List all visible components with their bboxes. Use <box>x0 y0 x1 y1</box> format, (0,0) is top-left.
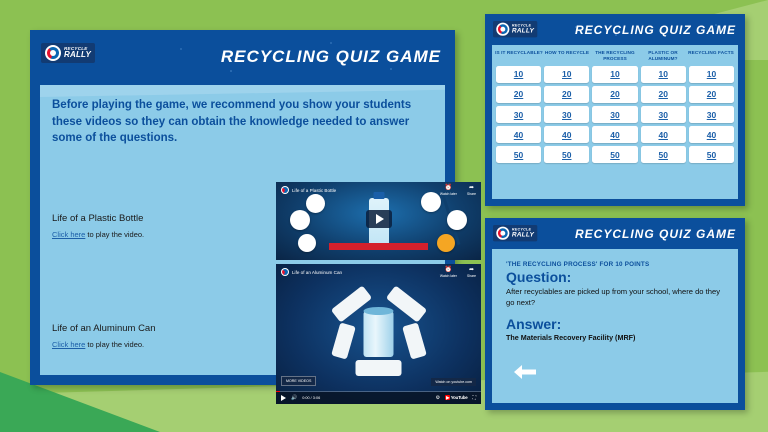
logo-line-2: RALLY <box>64 51 91 59</box>
video-time: 0:00 / 3:06 <box>302 396 320 400</box>
category-recycling-facts: RECYCLING FACTS <box>687 50 735 63</box>
points-value: 10 <box>514 69 523 79</box>
fullscreen-icon[interactable]: ⛶ <box>472 395 476 401</box>
quiz-board-slide: RECYCLE RALLY RECYCLING QUIZ GAME IS IT … <box>485 14 745 206</box>
video-2-label: Life of an Aluminum Can <box>52 323 156 334</box>
points-value: 40 <box>514 130 523 140</box>
logo-line-2: RALLY <box>512 28 534 35</box>
video-2-link-suffix: to play the video. <box>85 340 144 349</box>
category-plastic-or-aluminum: PLASTIC OR ALUMINUM? <box>639 50 687 63</box>
points-cell[interactable]: 10 <box>496 66 541 83</box>
points-cell[interactable]: 50 <box>592 146 637 163</box>
points-cell[interactable]: 30 <box>689 106 734 123</box>
youtube-logo[interactable]: ▶YouTube <box>445 395 467 401</box>
points-cell[interactable]: 20 <box>496 86 541 103</box>
qa-kicker: 'THE RECYCLING PROCESS' FOR 10 POINTS <box>506 261 724 268</box>
recycle-rally-logo-qa: RECYCLE RALLY <box>493 225 537 241</box>
points-value: 30 <box>658 110 667 120</box>
bottle-cap <box>373 192 384 199</box>
points-value: 40 <box>610 130 619 140</box>
aluminum-can-illustration <box>364 311 394 357</box>
recycle-arrow-5 <box>402 322 427 359</box>
question-answer-slide: RECYCLE RALLY RECYCLING QUIZ GAME 'THE R… <box>485 218 745 410</box>
watch-later-label-2: Watch later <box>440 274 457 278</box>
question-label: Question: <box>506 270 724 284</box>
player-2-top-actions[interactable]: ⏰ Watch later ➦ Share <box>440 267 476 278</box>
question-text: After recyclables are picked up from you… <box>506 286 724 308</box>
volume-icon[interactable]: 🔊 <box>291 395 297 401</box>
video-1-link-suffix: to play the video. <box>85 230 144 239</box>
points-cell[interactable]: 40 <box>544 126 589 143</box>
qa-slide-title: RECYCLING QUIZ GAME <box>575 227 736 241</box>
points-cell[interactable]: 20 <box>592 86 637 103</box>
points-value: 40 <box>658 130 667 140</box>
points-cell[interactable]: 20 <box>544 86 589 103</box>
board-slide-title: RECYCLING QUIZ GAME <box>575 23 736 37</box>
points-value: 50 <box>707 150 716 160</box>
can-top <box>364 307 394 315</box>
points-cell[interactable]: 20 <box>641 86 686 103</box>
points-cell[interactable]: 30 <box>592 106 637 123</box>
more-videos-button[interactable]: MORE VIDEOS <box>281 376 316 386</box>
watch-later-button-2[interactable]: ⏰ Watch later <box>440 267 457 278</box>
points-cell[interactable]: 20 <box>689 86 734 103</box>
qa-panel: 'THE RECYCLING PROCESS' FOR 10 POINTS Qu… <box>492 249 738 403</box>
water-drop-icon <box>298 234 316 252</box>
points-cell[interactable]: 50 <box>496 146 541 163</box>
recycle-arrow-4 <box>331 322 356 359</box>
video-2-click-here-link[interactable]: Click here <box>52 340 85 349</box>
points-value: 20 <box>562 89 571 99</box>
recycle-swoosh-icon <box>45 45 61 61</box>
player-1-title: Life of a Plastic Bottle <box>292 188 336 193</box>
points-value: 40 <box>562 130 571 140</box>
points-row: 30 30 30 30 30 <box>496 106 734 123</box>
clock-icon: ⏰ <box>445 185 452 191</box>
share-icon: ➦ <box>469 267 474 273</box>
share-label-2: Share <box>467 274 476 278</box>
points-value: 30 <box>562 110 571 120</box>
player-2-channel-icon <box>281 268 289 276</box>
quiz-board-panel: IS IT RECYCLABLE? HOW TO RECYCLE THE REC… <box>492 45 738 199</box>
back-arrow-icon[interactable] <box>512 363 538 381</box>
points-value: 50 <box>562 150 571 160</box>
logo-line-2: RALLY <box>512 232 534 239</box>
points-cell[interactable]: 50 <box>544 146 589 163</box>
main-slide-title: RECYCLING QUIZ GAME <box>221 47 441 67</box>
oil-rig-icon <box>290 210 310 230</box>
panel-wave-decor <box>40 85 445 97</box>
watch-on-youtube-button[interactable]: Watch on youtube.com <box>431 378 476 386</box>
recycle-rally-logo: RECYCLE RALLY <box>41 43 95 63</box>
video-control-bar[interactable]: 🔊 0:00 / 3:06 ⚙ ▶YouTube ⛶ <box>276 392 481 404</box>
points-value: 50 <box>658 150 667 160</box>
points-cell[interactable]: 40 <box>689 126 734 143</box>
points-value: 30 <box>707 110 716 120</box>
video-1-click-here-link[interactable]: Click here <box>52 230 85 239</box>
points-row: 50 50 50 50 50 <box>496 146 734 163</box>
points-cell[interactable]: 30 <box>496 106 541 123</box>
player-1-play-overlay[interactable] <box>366 210 392 228</box>
points-value: 10 <box>658 69 667 79</box>
recycle-arrow-3 <box>356 360 402 376</box>
watch-later-label: Watch later <box>440 192 457 196</box>
factory-icon <box>306 194 325 213</box>
points-value: 20 <box>707 89 716 99</box>
player-1-top-actions[interactable]: ⏰ Watch later ➦ Share <box>440 185 476 196</box>
player-2-title: Life of an Aluminum Can <box>292 270 342 275</box>
points-value: 10 <box>562 69 571 79</box>
points-value: 20 <box>658 89 667 99</box>
points-cell[interactable]: 50 <box>689 146 734 163</box>
video-player-plastic-bottle[interactable]: Life of a Plastic Bottle ⏰ Watch later ➦… <box>276 182 481 260</box>
answer-label: Answer: <box>506 317 724 331</box>
points-cell[interactable]: 50 <box>641 146 686 163</box>
points-row: 40 40 40 40 40 <box>496 126 734 143</box>
points-grid: 10 10 10 10 10 20 20 20 20 20 30 30 30 3… <box>492 65 738 168</box>
player-1-title-bar: Life of a Plastic Bottle <box>281 186 336 194</box>
points-value: 20 <box>514 89 523 99</box>
youtube-label: YouTube <box>451 395 468 400</box>
answer-text: The Materials Recovery Facility (MRF) <box>506 333 724 342</box>
video-1-link-line: Click here to play the video. <box>52 230 144 239</box>
recycle-rally-logo-board: RECYCLE RALLY <box>493 21 537 37</box>
points-value: 20 <box>610 89 619 99</box>
share-button[interactable]: ➦ Share <box>467 185 476 196</box>
points-cell[interactable]: 30 <box>544 106 589 123</box>
red-floor-band <box>329 243 427 250</box>
red-flakes-icon <box>447 210 467 230</box>
category-is-it-recyclable: IS IT RECYCLABLE? <box>495 50 543 63</box>
share-button-2[interactable]: ➦ Share <box>467 267 476 278</box>
share-label: Share <box>467 192 476 196</box>
points-row: 10 10 10 10 10 <box>496 66 734 83</box>
video-player-aluminum-can[interactable]: Life of an Aluminum Can ⏰ Watch later ➦ … <box>276 264 481 404</box>
video-1-label: Life of a Plastic Bottle <box>52 213 143 224</box>
player-1-channel-icon <box>281 186 289 194</box>
red-pellets-icon <box>421 192 441 212</box>
intro-paragraph: Before playing the game, we recommend yo… <box>52 97 430 147</box>
recycled-product-icon <box>437 234 455 252</box>
points-cell[interactable]: 10 <box>689 66 734 83</box>
share-icon: ➦ <box>469 185 474 191</box>
points-cell[interactable]: 10 <box>544 66 589 83</box>
points-row: 20 20 20 20 20 <box>496 86 734 103</box>
points-cell[interactable]: 40 <box>496 126 541 143</box>
points-value: 50 <box>610 150 619 160</box>
watch-later-button[interactable]: ⏰ Watch later <box>440 185 457 196</box>
main-intro-slide: RECYCLE RALLY RECYCLING QUIZ GAME Before… <box>30 30 455 385</box>
player-2-title-bar: Life of an Aluminum Can <box>281 268 342 276</box>
points-value: 10 <box>707 69 716 79</box>
points-value: 10 <box>610 69 619 79</box>
points-cell[interactable]: 10 <box>592 66 637 83</box>
category-how-to-recycle: HOW TO RECYCLE <box>543 50 591 63</box>
recycling-arrows-illustration <box>331 290 426 378</box>
settings-gear-icon[interactable]: ⚙ <box>436 395 440 401</box>
recycle-swoosh-icon <box>496 227 509 240</box>
category-header-row: IS IT RECYCLABLE? HOW TO RECYCLE THE REC… <box>492 45 738 65</box>
clock-icon: ⏰ <box>445 267 452 273</box>
category-the-recycling-process: THE RECYCLING PROCESS <box>591 50 639 63</box>
play-icon[interactable] <box>281 395 286 401</box>
recycle-swoosh-icon <box>496 23 509 36</box>
points-value: 30 <box>610 110 619 120</box>
points-cell[interactable]: 40 <box>641 126 686 143</box>
points-cell[interactable]: 40 <box>592 126 637 143</box>
points-cell[interactable]: 30 <box>641 106 686 123</box>
points-value: 50 <box>514 150 523 160</box>
points-value: 30 <box>514 110 523 120</box>
points-value: 40 <box>707 130 716 140</box>
points-cell[interactable]: 10 <box>641 66 686 83</box>
video-2-link-line: Click here to play the video. <box>52 340 144 349</box>
